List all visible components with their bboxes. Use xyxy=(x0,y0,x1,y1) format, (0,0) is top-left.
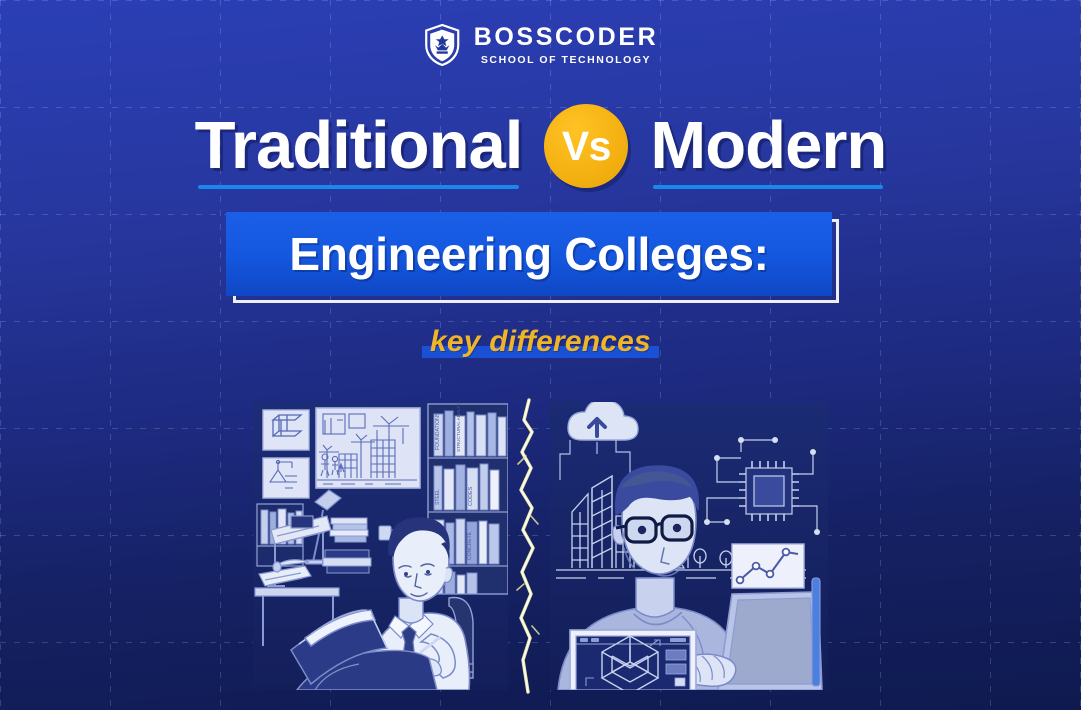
svg-text:CONCRETE: CONCRETE xyxy=(467,531,473,560)
lightning-bolt-divider xyxy=(508,402,550,690)
vs-badge: Vs xyxy=(544,104,628,188)
illustration-row: FOUNDATIONS STRUCTURAL ANALYSIS STEEL CO… xyxy=(0,402,1081,702)
svg-text:CODES: CODES xyxy=(468,486,474,506)
brand-logo[interactable]: BOSSCODER SCHOOL OF TECHNOLOGY xyxy=(423,24,659,66)
headline-row: Traditional Vs Modern xyxy=(0,104,1081,188)
subtitle-text: key differences xyxy=(430,325,651,358)
traditional-engineering-illustration: FOUNDATIONS STRUCTURAL ANALYSIS STEEL CO… xyxy=(253,402,508,690)
shield-crown-icon xyxy=(423,24,461,66)
svg-text:STRUCTURAL ANALYSIS: STRUCTURAL ANALYSIS xyxy=(456,402,461,452)
subtitle-row: key differences xyxy=(0,325,1081,359)
headline-right-underline xyxy=(653,185,883,189)
headline-right-word: Modern xyxy=(650,108,886,183)
headline-left-underline xyxy=(198,185,520,189)
logo-brand-text: BOSSCODER xyxy=(474,25,659,50)
modern-engineering-illustration xyxy=(550,402,828,690)
poster-canvas: BOSSCODER SCHOOL OF TECHNOLOGY Tradition… xyxy=(0,0,1081,710)
logo-tagline-text: SCHOOL OF TECHNOLOGY xyxy=(481,55,651,66)
highlight-box-text: Engineering Colleges: xyxy=(289,227,768,281)
headline-left-word-wrap: Traditional xyxy=(195,112,523,180)
svg-text:FOUNDATIONS: FOUNDATIONS xyxy=(435,412,441,450)
highlight-box-fill: Engineering Colleges: xyxy=(226,212,832,296)
subtitle: key differences xyxy=(422,325,659,359)
headline-right-word-wrap: Modern xyxy=(650,112,886,180)
highlight-box: Engineering Colleges: xyxy=(226,212,832,296)
svg-text:STEEL: STEEL xyxy=(435,489,441,505)
headline-left-word: Traditional xyxy=(195,108,523,183)
